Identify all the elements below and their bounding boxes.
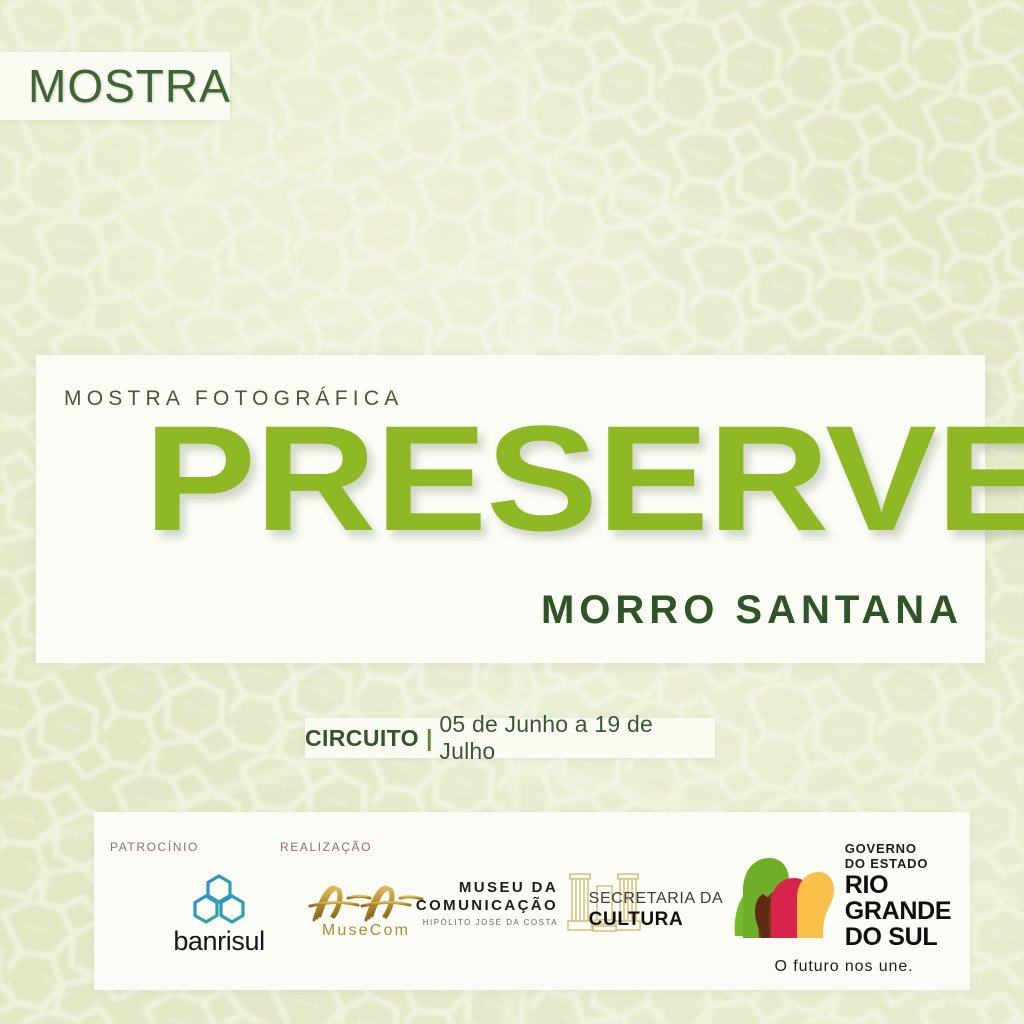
rs-line-2: DO ESTADO <box>845 857 952 872</box>
circuito-dates: 05 de Junho a 19 de Julho <box>439 711 715 765</box>
cultura-line-1: SECRETARIA DA <box>589 889 724 909</box>
logo-banrisul[interactable]: banrisul <box>144 874 294 957</box>
musecom-wordmark: MuseCom <box>322 922 410 940</box>
logo-governo-rs[interactable]: GOVERNO DO ESTADO RIO GRANDE DO SUL O fu… <box>724 842 964 976</box>
circuito-separator: | <box>426 725 432 752</box>
museu-line-3: HIPÓLITO JOSÉ DA COSTA <box>416 918 558 927</box>
page-subtitle: MORRO SANTANA <box>541 588 963 633</box>
cultura-line-2: CULTURA <box>589 909 724 931</box>
mostra-tag: MOSTRA <box>0 52 230 120</box>
realizacao-label: REALIZAÇÃO <box>280 840 372 854</box>
banrisul-wordmark: banrisul <box>173 926 264 957</box>
title-panel: MOSTRA FOTOGRÁFICA PRESERVE MORRO SANTAN… <box>36 355 985 663</box>
rs-people-silhouette-icon <box>737 854 835 938</box>
rs-line-3: RIO <box>845 872 952 898</box>
rs-line-4: GRANDE <box>845 898 952 924</box>
page-title: PRESERVE <box>144 403 1024 553</box>
musecom-aa-icon <box>308 880 424 924</box>
sponsor-footer: PATROCÍNIO REALIZAÇÃO banrisul <box>94 812 970 990</box>
patrocinio-label: PATROCÍNIO <box>110 840 199 854</box>
rs-line-1: GOVERNO <box>845 842 952 857</box>
poster-canvas: MOSTRA MOSTRA FOTOGRÁFICA PRESERVE MORRO… <box>0 0 1024 1024</box>
museu-line-2: COMUNICAÇÃO <box>416 897 558 915</box>
rs-tagline: O futuro nos une. <box>724 958 964 976</box>
museu-line-1: MUSEU DA <box>416 879 558 897</box>
mostra-tag-label: MOSTRA <box>0 63 231 109</box>
circuito-band: CIRCUITO | 05 de Junho a 19 de Julho <box>305 718 715 758</box>
banrisul-hexagon-icon <box>188 874 250 924</box>
circuito-label: CIRCUITO <box>305 725 419 752</box>
rs-line-5: DO SUL <box>845 924 952 950</box>
